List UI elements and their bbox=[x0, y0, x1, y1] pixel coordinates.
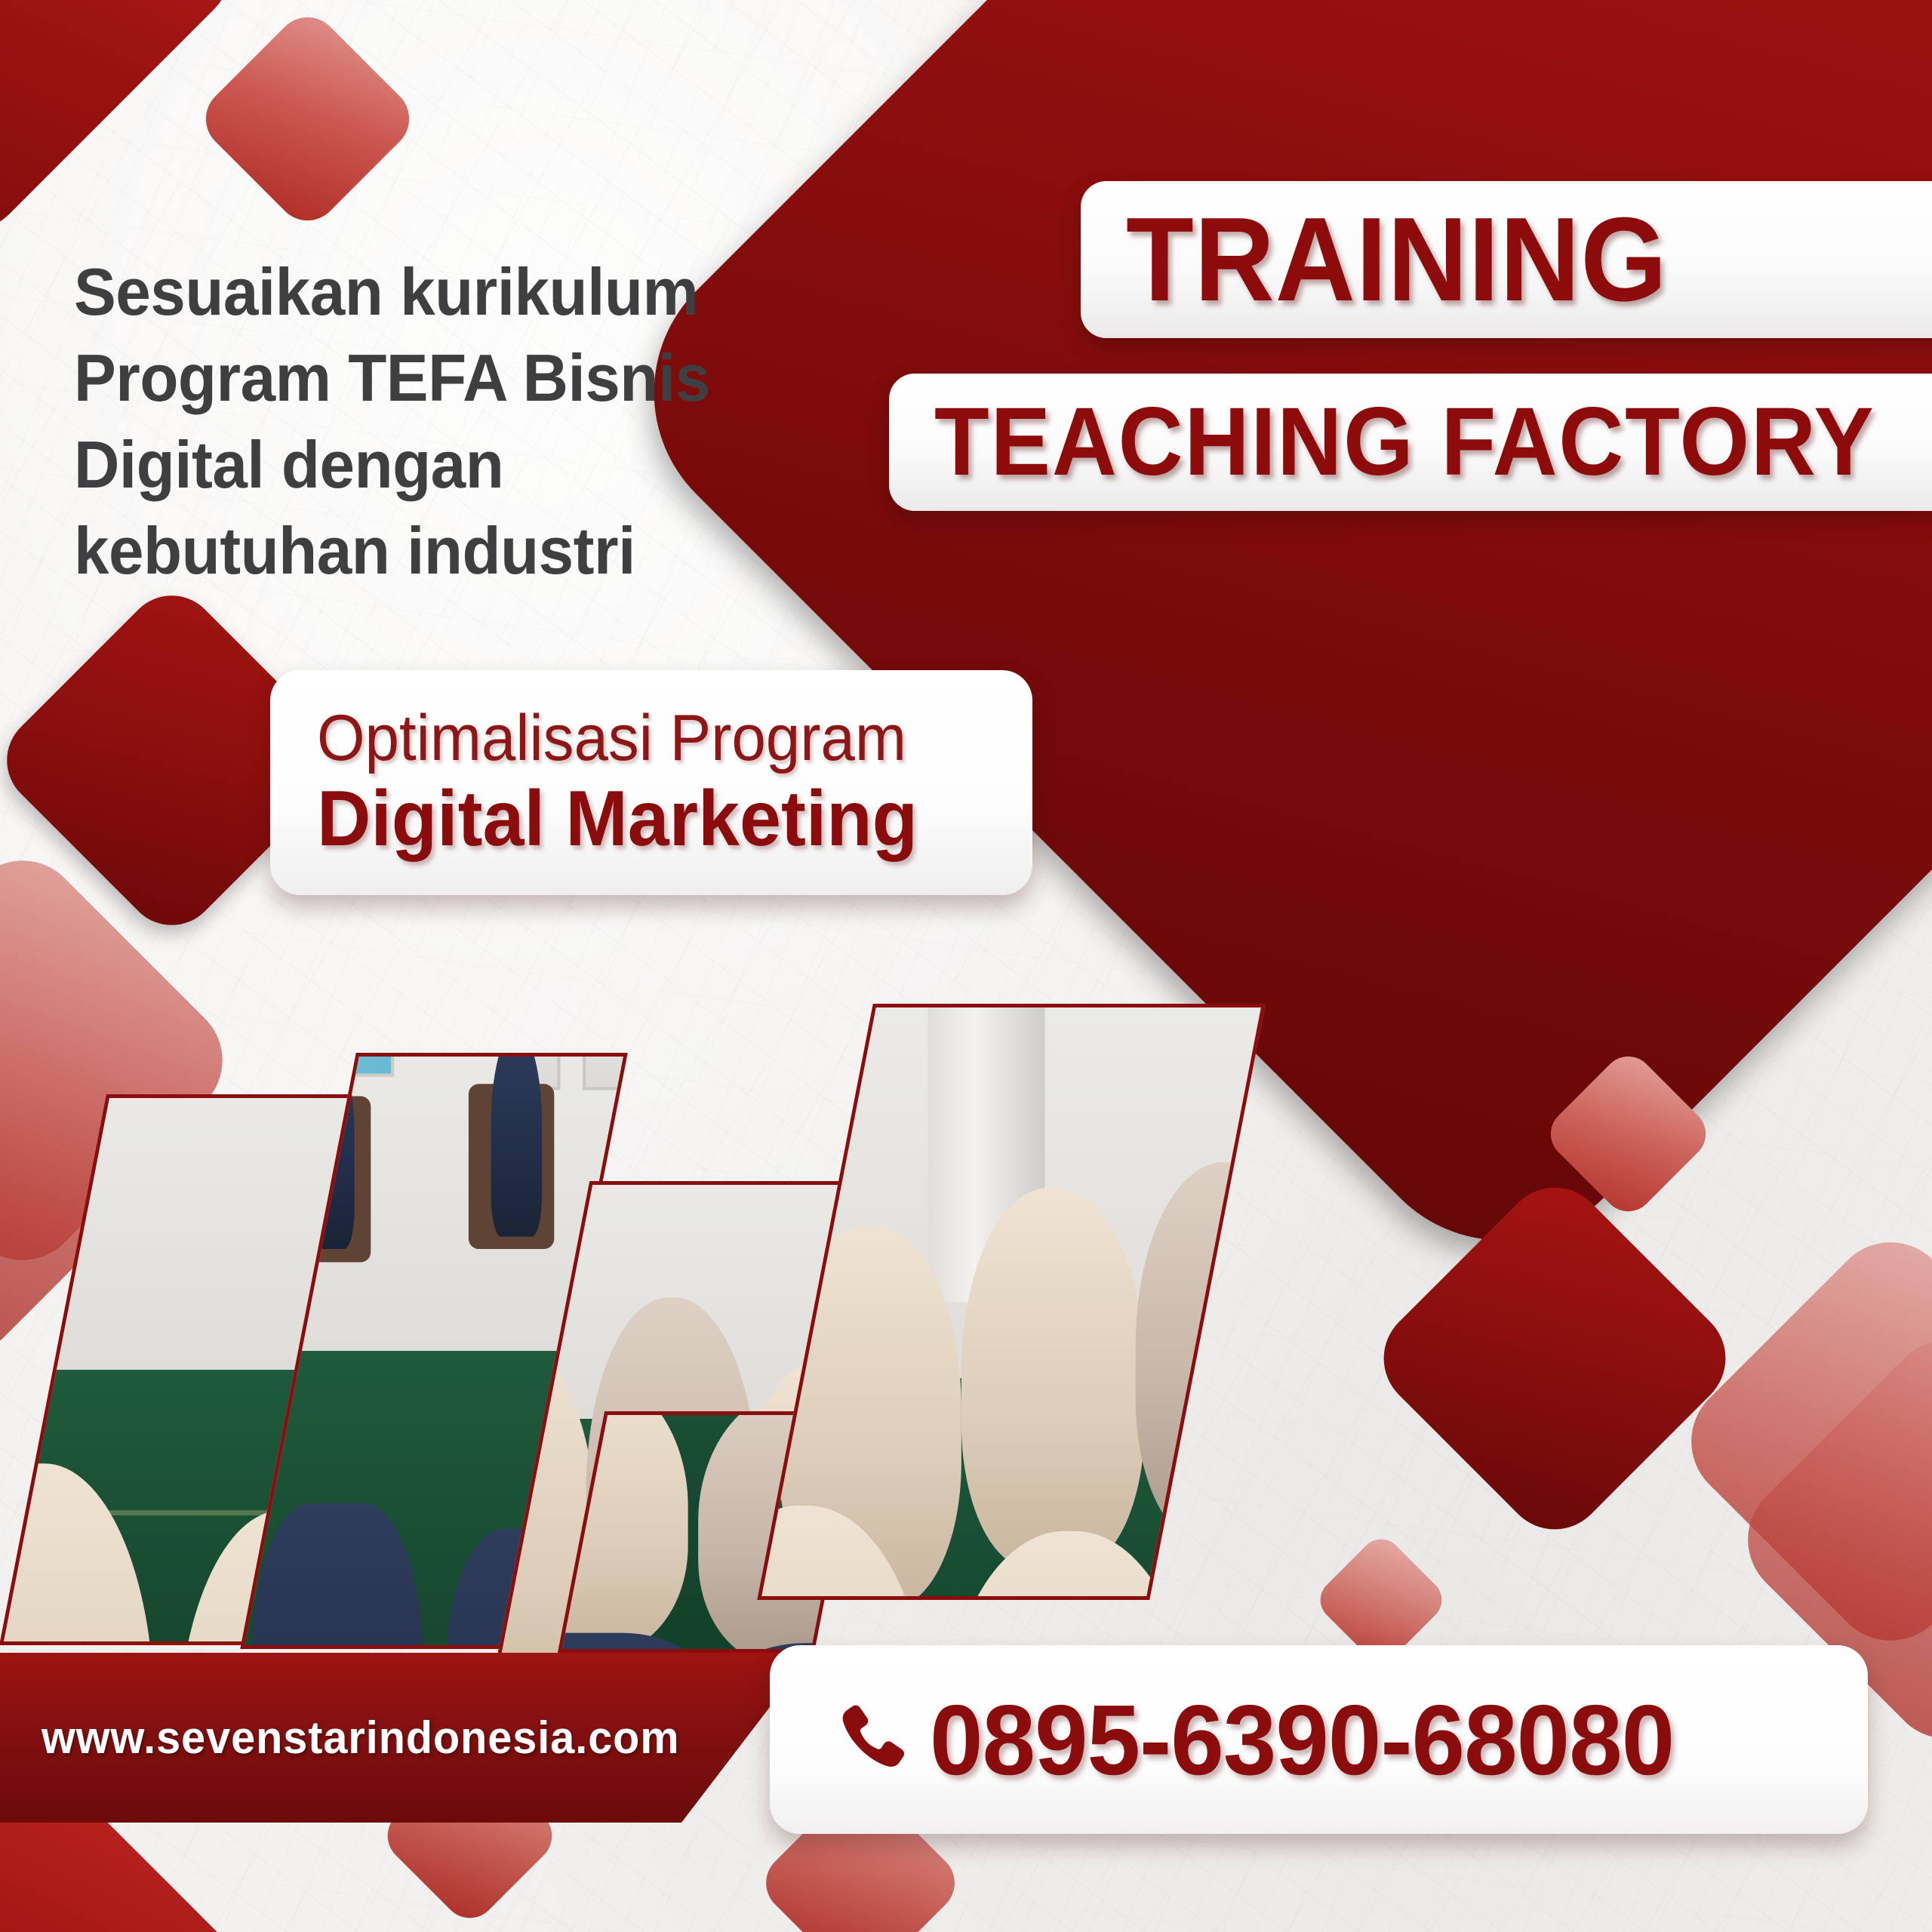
phone-card[interactable]: 0895-6390-68080 bbox=[770, 1645, 1868, 1834]
program-card: Optimalisasi Program Digital Marketing bbox=[270, 670, 1032, 895]
collage-photo-5 bbox=[757, 1004, 1266, 1600]
headline-teaching-factory-text: TEACHING FACTORY bbox=[934, 394, 1875, 491]
tagline-line-2: Program TEFA Bisnis bbox=[74, 335, 762, 421]
website-url[interactable]: www.sevenstarindonesia.com bbox=[42, 1712, 680, 1764]
photo-collage bbox=[53, 981, 1321, 1645]
decorative-diamond-right-large bbox=[1362, 1166, 1746, 1550]
phone-number[interactable]: 0895-6390-68080 bbox=[930, 1683, 1674, 1797]
tagline-line-4: kebutuhan industri bbox=[74, 508, 762, 594]
headline-training-text: TRAINING bbox=[1126, 200, 1668, 319]
tagline-line-3: Digital dengan bbox=[74, 422, 762, 508]
poster-canvas: TRAINING TEACHING FACTORY Sesuaikan kuri… bbox=[0, 0, 1932, 1932]
footer-strip: www.sevenstarindonesia.com 0895-6390-680… bbox=[0, 1653, 1932, 1857]
program-card-subtitle: Optimalisasi Program bbox=[317, 704, 997, 772]
headline-box-training: TRAINING bbox=[1081, 181, 1932, 338]
decorative-diamond-top-left bbox=[192, 4, 422, 233]
tagline-block: Sesuaikan kurikulum Program TEFA Bisnis … bbox=[74, 249, 762, 595]
phone-handset-icon bbox=[830, 1699, 912, 1780]
website-banner[interactable]: www.sevenstarindonesia.com bbox=[0, 1653, 811, 1823]
headline-box-teaching-factory: TEACHING FACTORY bbox=[889, 374, 1932, 511]
tagline-line-1: Sesuaikan kurikulum bbox=[74, 249, 762, 335]
program-card-title: Digital Marketing bbox=[317, 777, 997, 861]
